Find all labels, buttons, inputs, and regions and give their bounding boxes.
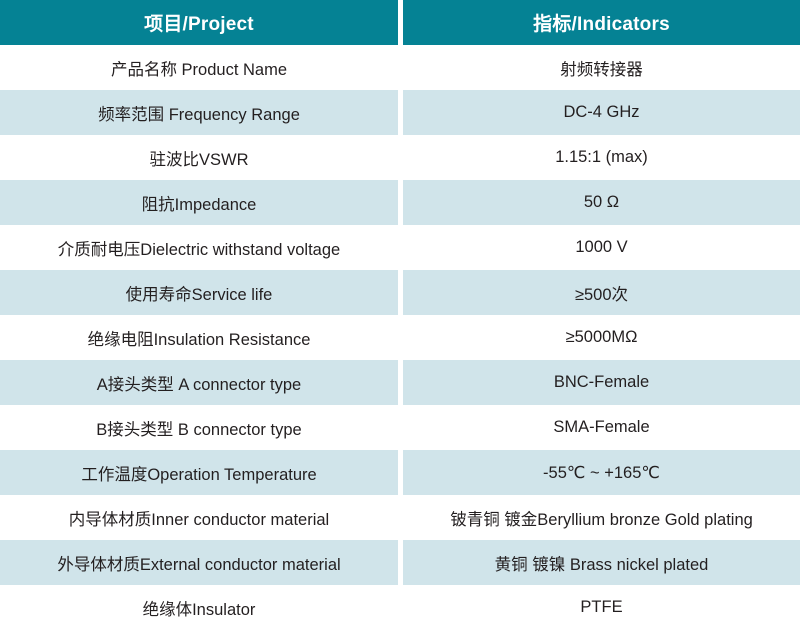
cell-project: 阻抗Impedance: [0, 180, 398, 225]
cell-indicator: 50 Ω: [403, 180, 800, 225]
cell-indicator: DC-4 GHz: [403, 90, 800, 135]
table-row: 介质耐电压Dielectric withstand voltage1000 V: [0, 225, 800, 270]
table-row: 绝缘电阻Insulation Resistance≥5000MΩ: [0, 315, 800, 360]
table-row: 工作温度Operation Temperature-55℃ ~ +165℃: [0, 450, 800, 495]
table-row: 内导体材质Inner conductor material铍青铜 镀金Beryl…: [0, 495, 800, 540]
table-row: 外导体材质External conductor material黄铜 镀镍 Br…: [0, 540, 800, 585]
cell-project: 驻波比VSWR: [0, 135, 398, 180]
cell-indicator: ≥5000MΩ: [403, 315, 800, 360]
table-row: 绝缘体InsulatorPTFE: [0, 585, 800, 630]
cell-project: 绝缘体Insulator: [0, 585, 398, 630]
cell-project: A接头类型 A connector type: [0, 360, 398, 405]
cell-project: 外导体材质External conductor material: [0, 540, 398, 585]
table-header-row: 项目/Project 指标/Indicators: [0, 0, 800, 45]
cell-indicator: 1000 V: [403, 225, 800, 270]
cell-indicator: 1.15:1 (max): [403, 135, 800, 180]
cell-indicator: 射频转接器: [403, 45, 800, 90]
cell-project: 频率范围 Frequency Range: [0, 90, 398, 135]
cell-indicator: BNC-Female: [403, 360, 800, 405]
cell-project: B接头类型 B connector type: [0, 405, 398, 450]
table-row: 驻波比VSWR1.15:1 (max): [0, 135, 800, 180]
cell-project: 产品名称 Product Name: [0, 45, 398, 90]
cell-indicator: PTFE: [403, 585, 800, 630]
cell-indicator: SMA-Female: [403, 405, 800, 450]
cell-project: 内导体材质Inner conductor material: [0, 495, 398, 540]
cell-project: 绝缘电阻Insulation Resistance: [0, 315, 398, 360]
column-header-indicators: 指标/Indicators: [403, 0, 800, 45]
cell-indicator: 黄铜 镀镍 Brass nickel plated: [403, 540, 800, 585]
column-header-project: 项目/Project: [0, 0, 398, 45]
table-row: 产品名称 Product Name射频转接器: [0, 45, 800, 90]
table-row: B接头类型 B connector typeSMA-Female: [0, 405, 800, 450]
table-row: 使用寿命Service life≥500次: [0, 270, 800, 315]
table-body: 产品名称 Product Name射频转接器频率范围 Frequency Ran…: [0, 45, 800, 630]
specification-table: 项目/Project 指标/Indicators 产品名称 Product Na…: [0, 0, 800, 634]
cell-project: 使用寿命Service life: [0, 270, 398, 315]
cell-indicator: ≥500次: [403, 270, 800, 315]
cell-indicator: -55℃ ~ +165℃: [403, 450, 800, 495]
cell-project: 工作温度Operation Temperature: [0, 450, 398, 495]
cell-indicator: 铍青铜 镀金Beryllium bronze Gold plating: [403, 495, 800, 540]
table-row: 阻抗Impedance50 Ω: [0, 180, 800, 225]
table-row: A接头类型 A connector typeBNC-Female: [0, 360, 800, 405]
cell-project: 介质耐电压Dielectric withstand voltage: [0, 225, 398, 270]
table-row: 频率范围 Frequency RangeDC-4 GHz: [0, 90, 800, 135]
